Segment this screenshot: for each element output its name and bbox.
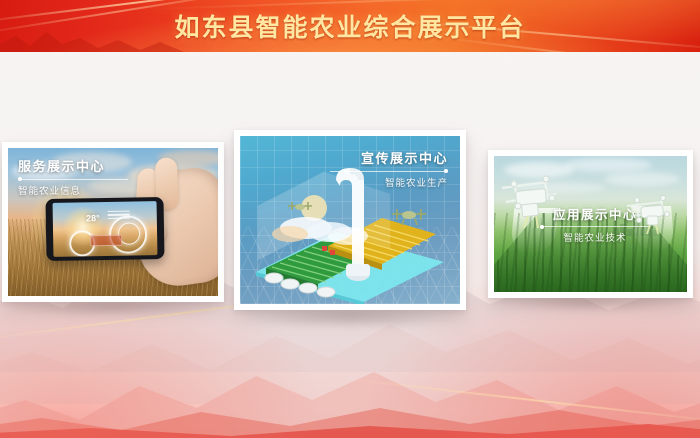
smartphone: 28° (45, 197, 164, 261)
header-banner: 如东县智能农业综合展示平台 (0, 0, 700, 52)
hud-chip (91, 235, 123, 247)
card-service-caption: 服务展示中心 智能农业信息 (18, 160, 128, 197)
phone-screen: 28° (53, 201, 158, 257)
caption-divider (18, 179, 128, 180)
card-application-title: 应用展示中心 (540, 208, 650, 222)
card-promotion-title: 宣传展示中心 (330, 152, 448, 167)
card-application-center-image: 应用展示中心 智能农业技术 (494, 156, 687, 292)
caption-divider (330, 171, 448, 172)
hud-temperature: 28° (86, 213, 100, 223)
cloud (564, 158, 652, 172)
cloud (604, 172, 680, 186)
card-service-title: 服务展示中心 (18, 160, 128, 175)
card-application-caption: 应用展示中心 智能农业技术 (540, 208, 650, 244)
card-promotion-center-image: 宣传展示中心 智能农业生产 (240, 136, 460, 304)
card-promotion-center[interactable]: 宣传展示中心 智能农业生产 (234, 130, 466, 310)
card-application-center[interactable]: 应用展示中心 智能农业技术 (488, 150, 693, 298)
page-title: 如东县智能农业综合展示平台 (0, 0, 700, 52)
card-application-subtitle: 智能农业技术 (540, 230, 650, 244)
card-service-center[interactable]: 28° 服务展示中心 智能农业信息 (2, 142, 224, 302)
card-service-subtitle: 智能农业信息 (18, 183, 128, 197)
card-service-center-image: 28° 服务展示中心 智能农业信息 (8, 148, 218, 296)
card-promotion-subtitle: 智能农业生产 (330, 175, 448, 189)
hud-bars (108, 210, 130, 221)
card-promotion-caption: 宣传展示中心 智能农业生产 (330, 152, 448, 189)
caption-divider (540, 226, 650, 227)
app-root: 如东县智能农业综合展示平台 (0, 0, 700, 438)
